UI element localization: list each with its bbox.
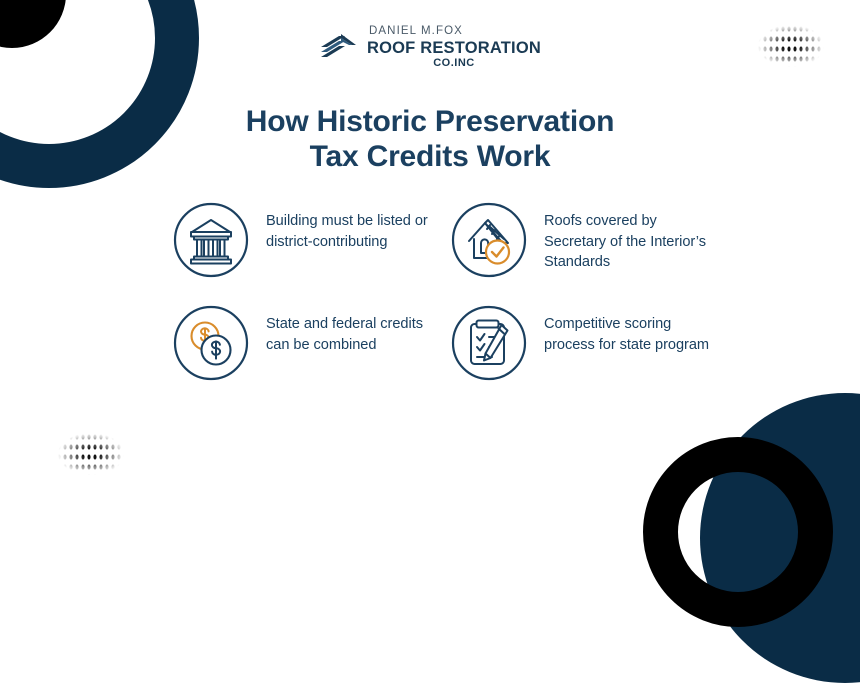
feature-item: Building must be listed or district-cont… xyxy=(172,201,450,304)
feature-item: Competitive scoring process for state pr… xyxy=(450,304,712,407)
bank-building-icon xyxy=(172,201,250,279)
page-title: How Historic Preservation Tax Credits Wo… xyxy=(0,104,860,175)
roof-house-icon xyxy=(319,31,365,65)
house-check-icon xyxy=(450,201,528,279)
dollar-coins-icon xyxy=(172,304,250,382)
feature-item: Roofs covered by Secretary of the Interi… xyxy=(450,201,712,304)
page-title-line-2: Tax Credits Work xyxy=(0,139,860,174)
feature-label: Building must be listed or district-cont… xyxy=(266,201,450,252)
brand-logo: DANIEL M.FOX ROOF RESTORATION CO.INC xyxy=(0,26,860,69)
bottom-right-ring-shape xyxy=(643,437,833,627)
feature-label: State and federal credits can be combine… xyxy=(266,304,450,355)
feature-label: Competitive scoring process for state pr… xyxy=(544,304,712,355)
logo-line-3: CO.INC xyxy=(433,58,475,69)
bottom-right-disc-shape xyxy=(700,393,860,683)
feature-item: State and federal credits can be combine… xyxy=(172,304,450,407)
page-title-line-1: How Historic Preservation xyxy=(246,105,614,138)
clipboard-pencil-icon xyxy=(450,304,528,382)
bottom-left-dot-grid xyxy=(50,432,132,476)
feature-grid: Building must be listed or district-cont… xyxy=(172,201,712,407)
logo-line-2: ROOF RESTORATION xyxy=(367,40,541,57)
logo-line-1: DANIEL M.FOX xyxy=(369,26,463,38)
feature-label: Roofs covered by Secretary of the Interi… xyxy=(544,201,712,273)
